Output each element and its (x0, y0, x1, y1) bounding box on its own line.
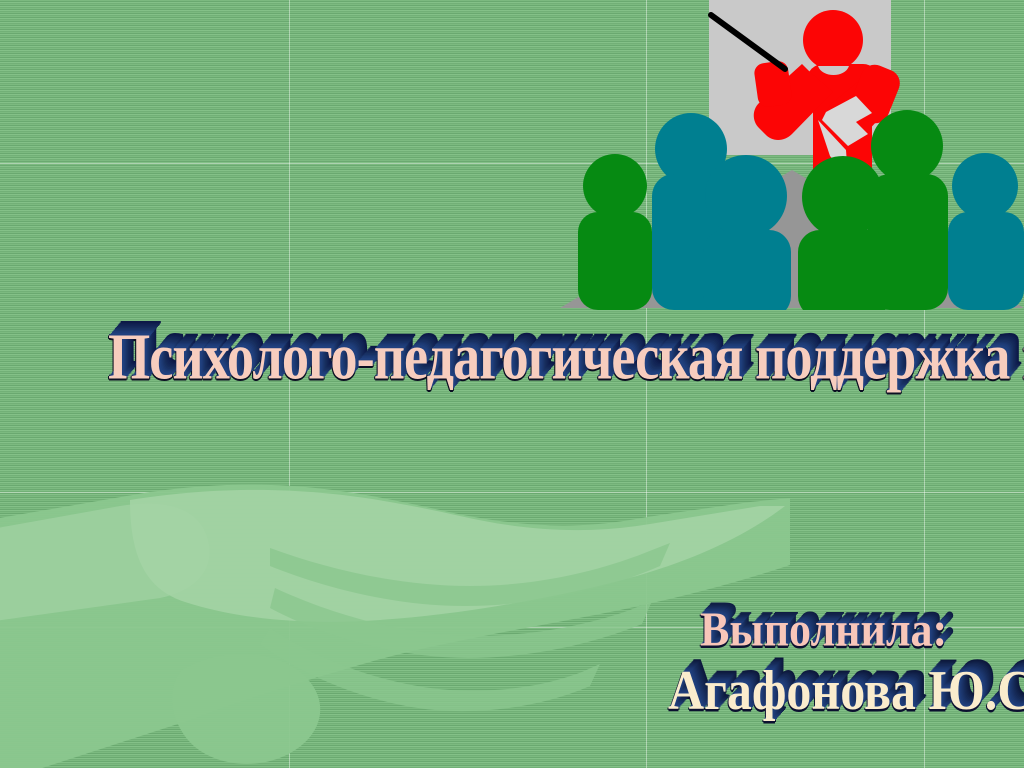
author-role-label: Выполнила: (700, 606, 947, 654)
author-name-label: Агафонова Ю.С. (668, 662, 1024, 718)
audience-figure-back-left-green (578, 154, 652, 310)
audience-figure-back-right-teal (948, 153, 1024, 310)
page-title: Психолого-педагогическая поддержка подро… (108, 324, 1024, 390)
presenter-head-icon (803, 10, 863, 70)
lecture-clipart (560, 0, 1024, 310)
audience-figure-front-left-teal (703, 155, 791, 310)
title-slide: Психолого-педагогическая поддержка подро… (0, 0, 1024, 768)
background-grid-line-horizontal (0, 492, 1024, 493)
audience-figure-front-right-green (798, 156, 890, 310)
